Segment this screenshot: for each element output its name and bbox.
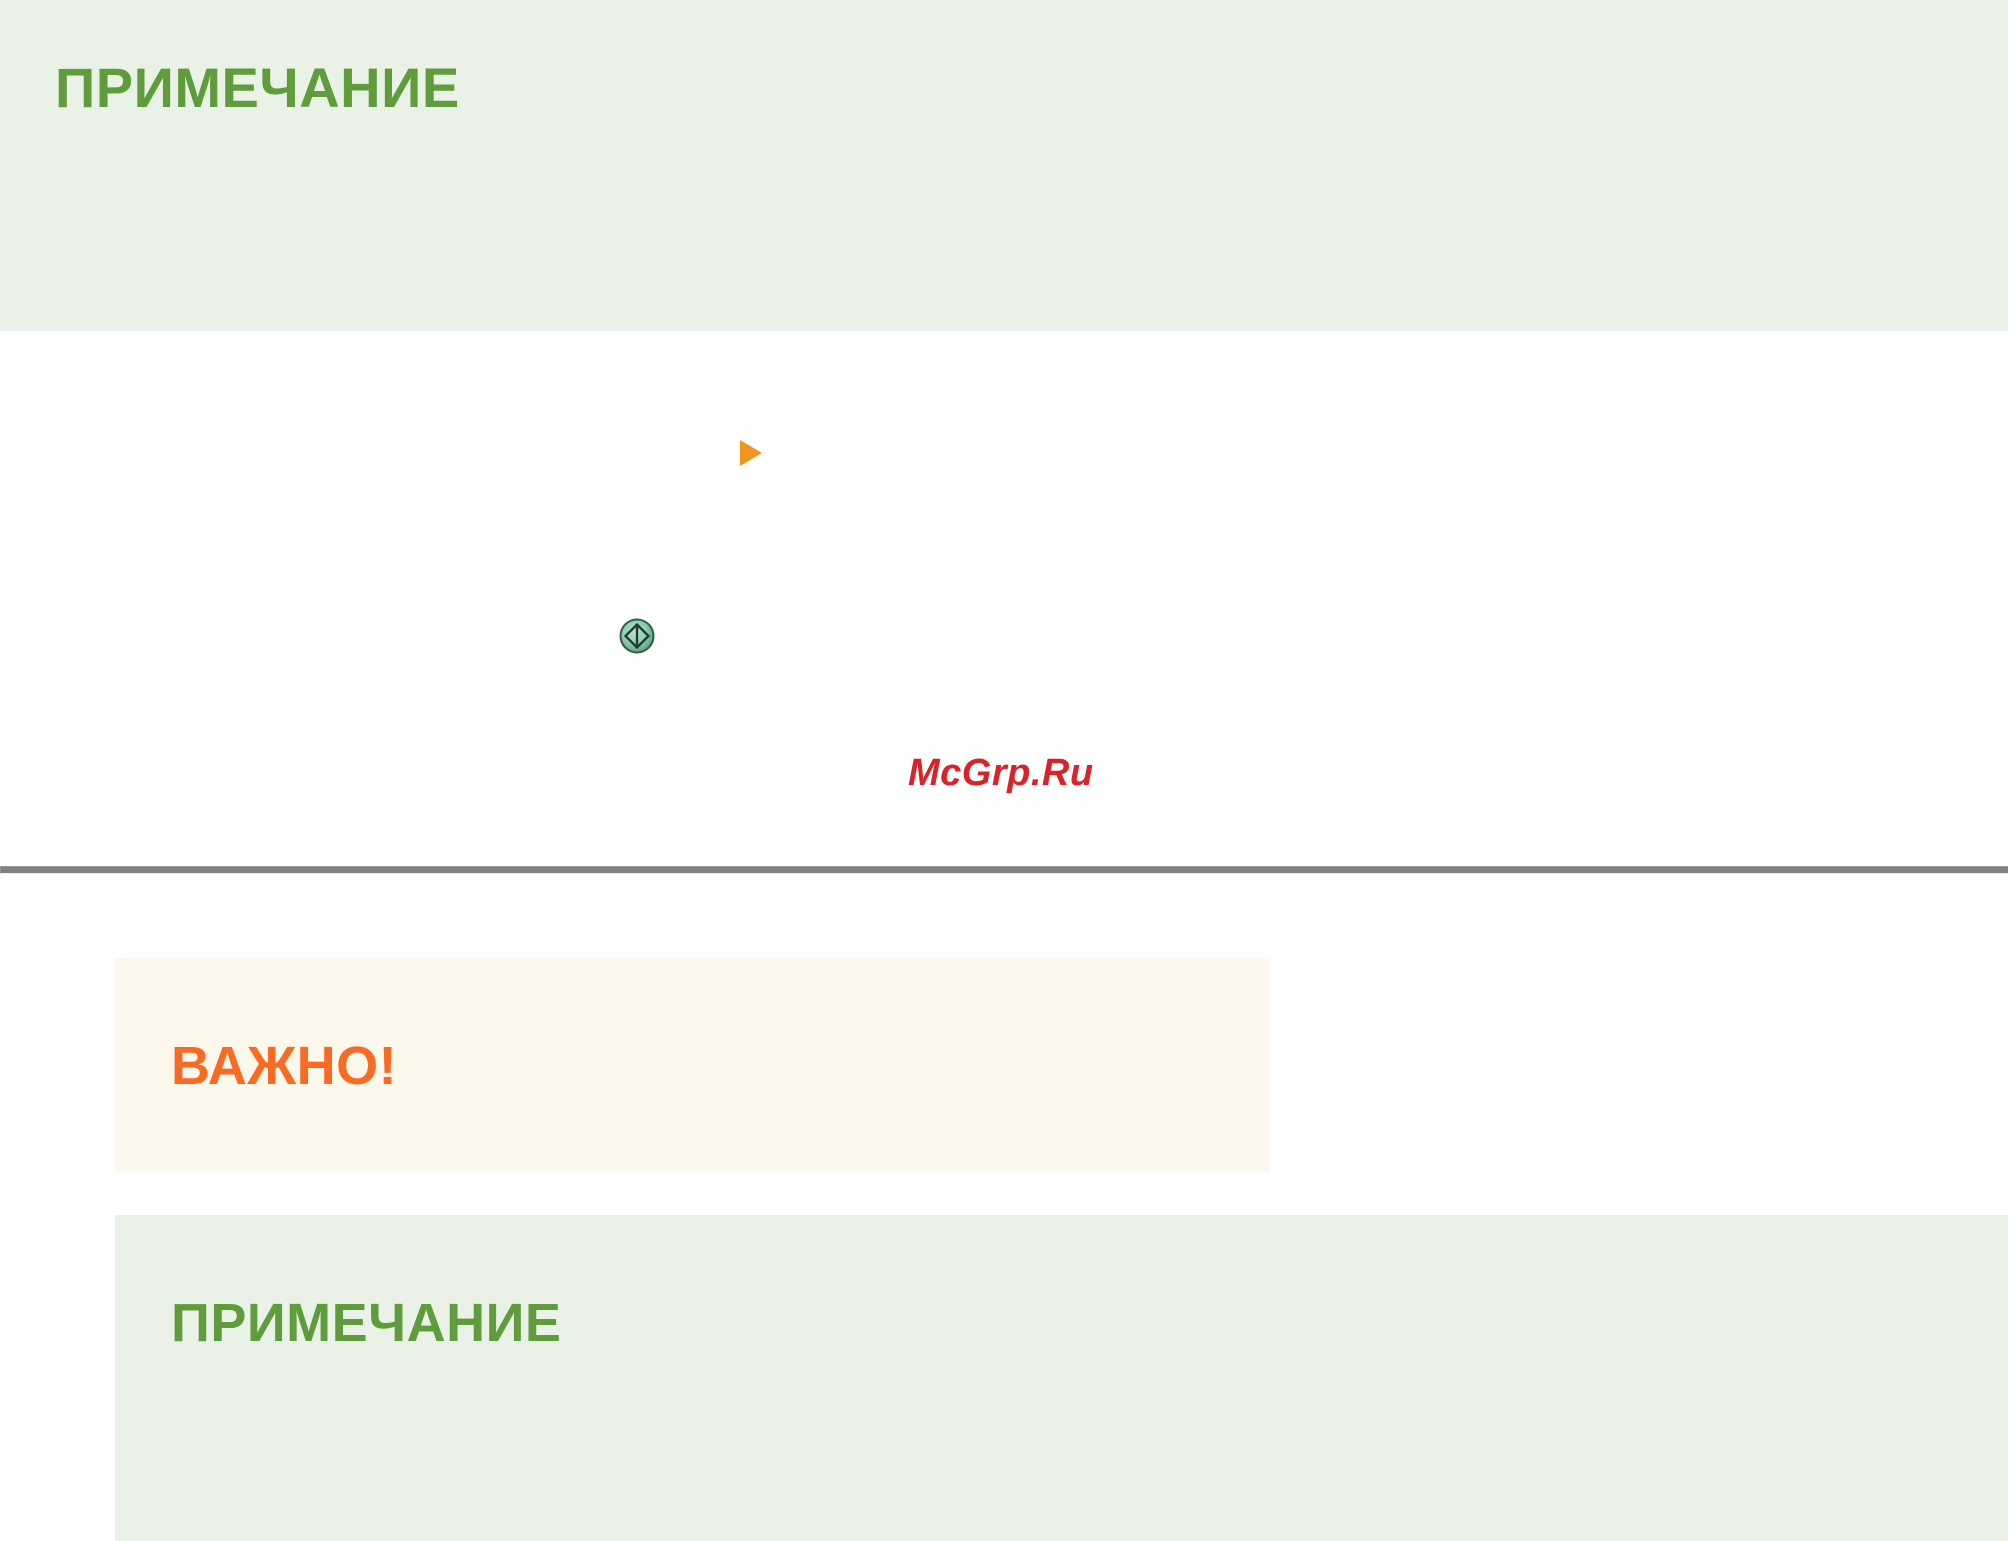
triangle-right-icon (740, 440, 762, 466)
start-key-icon (618, 617, 656, 655)
top-note-band: ПРИМЕЧАНИЕ (0, 0, 2008, 331)
note-callout-heading: ПРИМЕЧАНИЕ (171, 1292, 561, 1354)
note-callout: ПРИМЕЧАНИЕ (115, 1215, 2008, 1541)
section-divider (0, 866, 2008, 874)
top-note-heading: ПРИМЕЧАНИЕ (55, 56, 460, 120)
important-callout: ВАЖНО! (115, 958, 1270, 1172)
document-page: ПРИМЕЧАНИЕ McGrp.Ru ВАЖНО! (0, 0, 2008, 1541)
watermark-text: McGrp.Ru (908, 752, 1094, 795)
important-callout-heading: ВАЖНО! (171, 1035, 397, 1097)
